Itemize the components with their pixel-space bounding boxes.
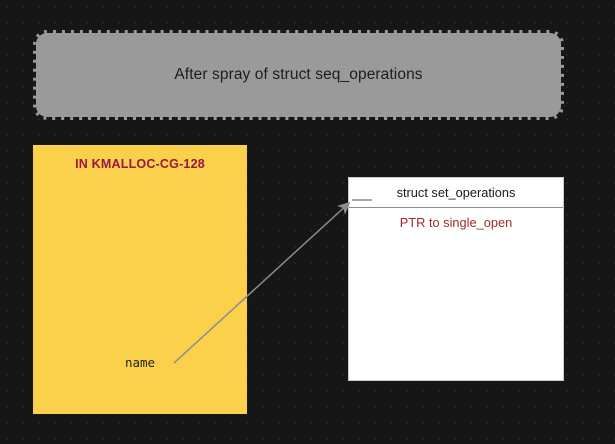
struct-box: struct set_operations PTR to single_open bbox=[348, 177, 564, 381]
banner-box: After spray of struct seq_operations bbox=[33, 30, 564, 120]
slab-title: IN KMALLOC-CG-128 bbox=[33, 157, 247, 171]
kmalloc-slab-box: IN KMALLOC-CG-128 name bbox=[33, 145, 247, 414]
struct-box-title: struct set_operations bbox=[349, 178, 563, 208]
struct-box-row-ptr: PTR to single_open bbox=[349, 208, 563, 238]
banner-title: After spray of struct seq_operations bbox=[174, 66, 422, 84]
diagram-canvas: After spray of struct seq_operations IN … bbox=[0, 0, 615, 444]
slab-field-name: name bbox=[33, 355, 247, 370]
